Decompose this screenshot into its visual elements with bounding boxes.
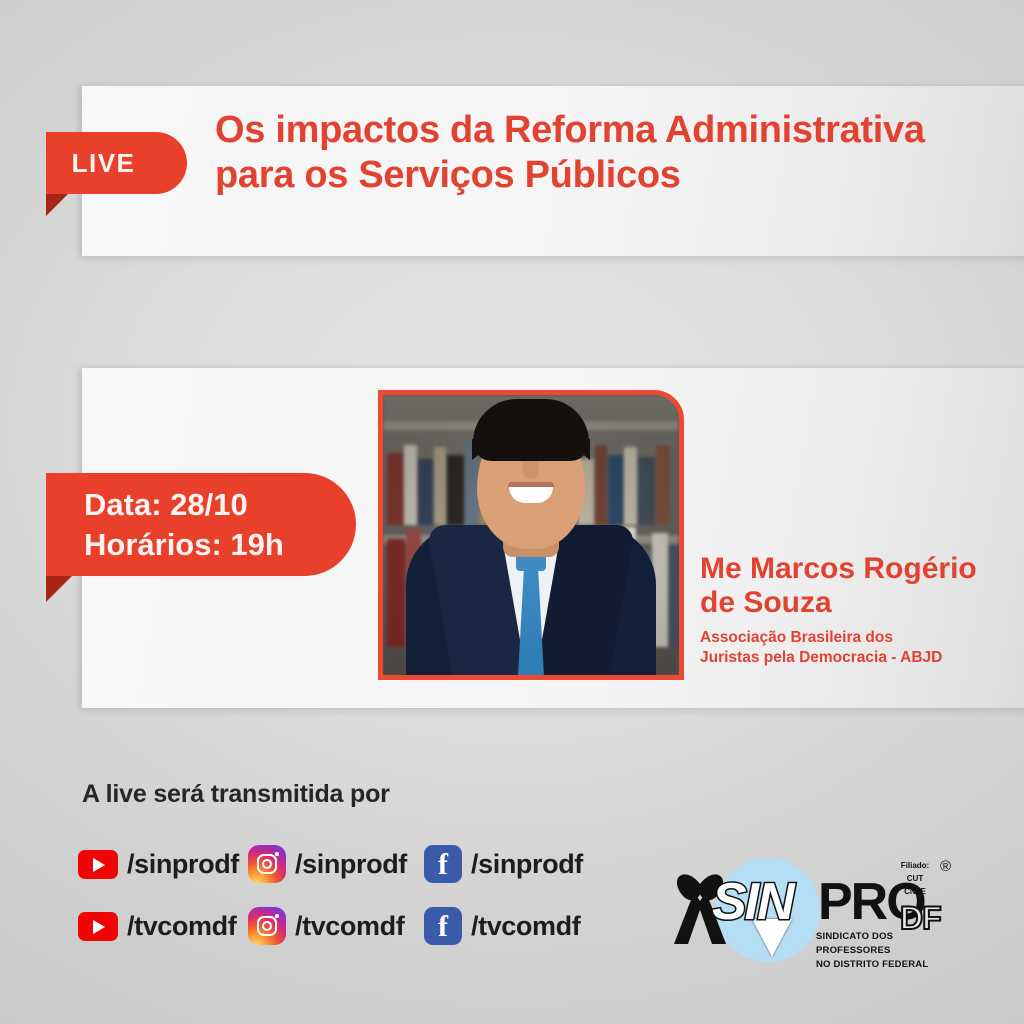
social-link-youtube-tvcomdf[interactable]: /tvcomdf [78,911,248,942]
page-title: Os impactos da Reforma Administrativa pa… [215,108,985,198]
affiliation-cut: CUT [894,873,936,886]
social-link-instagram-tvcomdf[interactable]: /tvcomdf [248,907,424,945]
social-link-facebook-tvcomdf[interactable]: f /tvcomdf [424,907,580,945]
facebook-icon[interactable]: f [424,907,462,945]
title-line-2: para os Serviços Públicos [215,153,985,198]
broadcast-heading: A live será transmitida por [82,780,390,809]
logo-subtitle: SINDICATO DOS PROFESSORES NO DISTRITO FE… [816,930,968,971]
social-handle[interactable]: /tvcomdf [295,911,404,942]
youtube-icon[interactable] [78,850,118,879]
social-handle[interactable]: /sinprodf [295,849,407,880]
event-time: Horários: 19h [84,525,356,565]
logo-affiliation: Filiado: CUT CNTE [894,860,936,898]
social-handle[interactable]: /sinprodf [471,849,583,880]
event-date: Data: 28/10 [84,485,356,525]
social-link-facebook-sinprodf[interactable]: f /sinprodf [424,845,583,883]
affiliation-label: Filiado: [894,860,936,873]
schedule-banner: Data: 28/10 Horários: 19h [46,473,356,576]
live-badge: LIVE [46,132,187,194]
registered-trademark-icon: ® [940,858,951,875]
schedule-banner-fold [46,576,72,602]
social-link-youtube-sinprodf[interactable]: /sinprodf [78,849,248,880]
speaker-org-line-2: Juristas pela Democracia - ABJD [700,648,1010,668]
instagram-icon[interactable] [248,907,286,945]
hair [473,399,589,461]
speaker-name-line-1: Me Marcos Rogério [700,552,1010,586]
nose [523,461,539,479]
social-link-instagram-sinprodf[interactable]: /sinprodf [248,845,424,883]
instagram-icon[interactable] [248,845,286,883]
live-badge-label: LIVE [72,148,136,179]
speaker-name-line-2: de Souza [700,586,1010,620]
logo-text-sin: SIN [712,876,793,928]
social-row-sinprodf: /sinprodf /sinprodf f /sinprodf [78,845,583,883]
logo-subtitle-line-2: NO DISTRITO FEDERAL [816,958,968,972]
live-event-poster: LIVE Os impactos da Reforma Administrati… [0,0,1024,1024]
social-handle[interactable]: /sinprodf [127,849,239,880]
live-badge-fold [46,194,68,216]
youtube-icon[interactable] [78,912,118,941]
speaker-info: Me Marcos Rogério de Souza Associação Br… [700,552,1010,668]
title-line-1: Os impactos da Reforma Administrativa [215,108,985,153]
social-row-tvcomdf: /tvcomdf /tvcomdf f /tvcomdf [78,907,580,945]
social-handle[interactable]: /tvcomdf [127,911,236,942]
speaker-figure [383,445,679,675]
affiliation-cnte: CNTE [894,886,936,899]
social-handle[interactable]: /tvcomdf [471,911,580,942]
logo-subtitle-line-1: SINDICATO DOS PROFESSORES [816,930,968,958]
facebook-icon[interactable]: f [424,845,462,883]
speaker-photo-frame [378,390,684,680]
logo-text-df: DF [900,902,941,934]
speaker-org-line-1: Associação Brasileira dos [700,628,1010,648]
speaker-photo [383,395,679,675]
sinpro-logo: SIN PRO SINDICATO DOS PROFESSORES NO DIS… [668,856,968,964]
